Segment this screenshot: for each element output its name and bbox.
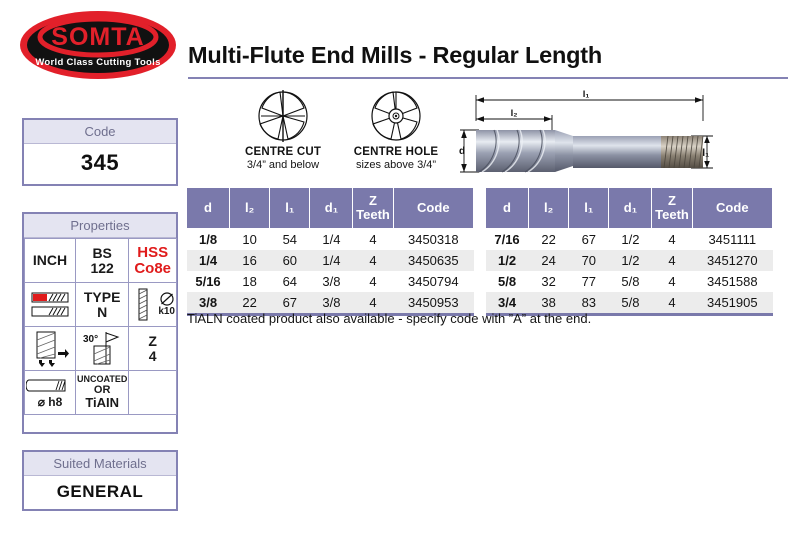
cell-code: 3450794 [393, 271, 473, 292]
centre-cut-caption: CENTRE CUT [228, 146, 338, 158]
property-tolerance: k10 [129, 283, 177, 327]
property-type: TYPE N [76, 283, 129, 327]
col-z-line1: Z [654, 194, 689, 208]
cell-l1: 67 [569, 229, 609, 251]
cell-code: 3450635 [393, 250, 473, 271]
col-l2: l₂ [230, 188, 270, 229]
svg-text:30°: 30° [83, 334, 98, 345]
cell-l2: 16 [230, 250, 270, 271]
cell-l1: 70 [569, 250, 609, 271]
property-shank-label: ⌀ h8 [38, 395, 63, 409]
cell-z: 4 [652, 229, 692, 251]
somta-logo-graphic: SOMTA World Class Cutting Tools [18, 8, 178, 82]
code-panel-heading: Code [24, 120, 176, 144]
dimension-l1-label: l₁ [583, 89, 590, 100]
col-z-teeth: Z Teeth [353, 188, 393, 229]
somta-logo: SOMTA World Class Cutting Tools [18, 8, 178, 82]
cell-d1: 1/4 [310, 250, 353, 271]
cell-d: 1/2 [486, 250, 529, 271]
cell-l2: 18 [230, 271, 270, 292]
helix-angle-icon: 30° [80, 330, 124, 368]
tolerance-k10-icon [136, 288, 150, 322]
cell-l1: 67 [270, 292, 310, 313]
table-row: 3/4 38 83 5/8 4 3451905 [486, 292, 773, 313]
properties-row: ⌀ h8 UNCOATED OR TiAIN [25, 371, 177, 415]
properties-row: 30° Z 4 [25, 327, 177, 371]
property-tolerance-label: k10 [158, 307, 175, 318]
shank-tolerance-icon [26, 377, 74, 394]
cell-d1: 1/2 [609, 250, 652, 271]
property-standard: BS 122 [76, 239, 129, 283]
table-row: 7/16 22 67 1/2 4 3451111 [486, 229, 773, 251]
cell-d1: 3/8 [310, 271, 353, 292]
svg-text:SOMTA: SOMTA [51, 23, 144, 51]
cell-code: 3451905 [692, 292, 772, 313]
property-flute-line1: Z [130, 334, 175, 349]
suited-materials-heading: Suited Materials [24, 452, 176, 476]
col-z-line1: Z [355, 194, 390, 208]
property-material-grade: HSS Co8e [129, 239, 177, 283]
cell-z: 4 [353, 292, 393, 313]
property-material-bar [25, 283, 76, 327]
table-row: 5/8 32 77 5/8 4 3451588 [486, 271, 773, 292]
diameter-symbol-icon [159, 291, 175, 307]
cell-l2: 32 [529, 271, 569, 292]
col-code: Code [692, 188, 772, 229]
col-code: Code [393, 188, 473, 229]
cell-l2: 10 [230, 229, 270, 251]
cell-l1: 60 [270, 250, 310, 271]
spec-table-right: d l₂ l₁ d₁ Z Teeth Code 7/16 22 67 1/2 4… [485, 187, 773, 316]
cell-code: 3451270 [692, 250, 772, 271]
end-mill-centre-hole-endview-icon [365, 88, 427, 144]
spec-table-right-body: 7/16 22 67 1/2 4 3451111 1/2 24 70 1/2 4… [486, 229, 773, 314]
property-coating: UNCOATED OR TiAIN [76, 371, 129, 415]
cell-d1: 1/4 [310, 229, 353, 251]
title-divider [188, 77, 788, 79]
code-panel: Code 345 [22, 118, 178, 186]
cell-code: 3451588 [692, 271, 772, 292]
property-standard-line2: 122 [77, 261, 127, 276]
suited-materials-panel: Suited Materials GENERAL [22, 450, 178, 511]
cell-d1: 5/8 [609, 271, 652, 292]
suited-materials-value: GENERAL [24, 476, 176, 509]
col-z-line2: Teeth [654, 208, 689, 222]
property-material-line2: Co8e [130, 261, 175, 277]
cell-z: 4 [652, 271, 692, 292]
property-helix-angle: 30° [76, 327, 129, 371]
cell-code: 3451111 [692, 229, 772, 251]
table-row: 1/4 16 60 1/4 4 3450635 [187, 250, 474, 271]
property-coating-line3: TiAIN [77, 396, 127, 410]
property-empty-cell [129, 371, 177, 415]
logo-tagline: World Class Cutting Tools [35, 57, 160, 68]
end-mill-side-view-icon: l₁ l₂ d [455, 84, 717, 182]
properties-panel: Properties INCH BS 122 HSS Co8e [22, 212, 178, 434]
dimension-l2-label: l₂ [511, 108, 518, 119]
centre-cut-subcaption: 3/4” and below [228, 159, 338, 171]
col-l1: l₁ [270, 188, 310, 229]
cell-l2: 24 [529, 250, 569, 271]
property-unit-system: INCH [25, 239, 76, 283]
cell-l2: 22 [529, 229, 569, 251]
cell-z: 4 [353, 271, 393, 292]
col-d: d [187, 188, 230, 229]
spec-table-left-body: 1/8 10 54 1/4 4 3450318 1/4 16 60 1/4 4 … [187, 229, 474, 314]
cell-code: 3450318 [393, 229, 473, 251]
page-title: Multi-Flute End Mills - Regular Length [188, 42, 788, 69]
cell-code: 3450953 [393, 292, 473, 313]
code-panel-value: 345 [24, 144, 176, 184]
dimension-d-label: d [459, 146, 465, 157]
col-l1: l₁ [569, 188, 609, 229]
cell-z: 4 [652, 292, 692, 313]
cell-l1: 64 [270, 271, 310, 292]
col-d1: d₁ [609, 188, 652, 229]
centre-cut-diagram: CENTRE CUT 3/4” and below [228, 88, 338, 171]
cell-d: 1/8 [187, 229, 230, 251]
cell-l1: 54 [270, 229, 310, 251]
cell-l2: 38 [529, 292, 569, 313]
table-row: 1/2 24 70 1/2 4 3451270 [486, 250, 773, 271]
centre-hole-diagram: CENTRE HOLE sizes above 3/4” [340, 88, 452, 171]
col-d: d [486, 188, 529, 229]
feed-direction-icon [29, 330, 71, 368]
end-mill-centre-cut-endview-icon [252, 88, 314, 144]
properties-row: TYPE N [25, 283, 177, 327]
property-feed-direction [25, 327, 76, 371]
property-standard-line1: BS [77, 246, 127, 261]
col-l2: l₂ [529, 188, 569, 229]
cell-d: 5/8 [486, 271, 529, 292]
cell-d1: 1/2 [609, 229, 652, 251]
spec-table-left: d l₂ l₁ d₁ Z Teeth Code 1/8 10 54 1/4 4 … [186, 187, 474, 316]
table-header-row: d l₂ l₁ d₁ Z Teeth Code [187, 188, 474, 229]
cell-d: 1/4 [187, 250, 230, 271]
properties-panel-heading: Properties [24, 214, 176, 238]
centre-hole-subcaption: sizes above 3/4” [340, 159, 452, 171]
cell-z: 4 [652, 250, 692, 271]
cell-d: 5/16 [187, 271, 230, 292]
coating-footnote: TiALN coated product also available - sp… [187, 311, 591, 326]
cell-d: 3/4 [486, 292, 529, 313]
spec-table-right-head: d l₂ l₁ d₁ Z Teeth Code [486, 188, 773, 229]
cell-d1: 3/8 [310, 292, 353, 313]
property-type-line2: N [77, 305, 127, 320]
cell-z: 4 [353, 250, 393, 271]
cell-d: 7/16 [486, 229, 529, 251]
centre-hole-caption: CENTRE HOLE [340, 146, 452, 158]
cell-l2: 22 [230, 292, 270, 313]
table-header-row: d l₂ l₁ d₁ Z Teeth Code [486, 188, 773, 229]
cell-l1: 83 [569, 292, 609, 313]
property-flute-count: Z 4 [129, 327, 177, 371]
cell-d: 3/8 [187, 292, 230, 313]
property-shank-tolerance: ⌀ h8 [25, 371, 76, 415]
cell-l1: 77 [569, 271, 609, 292]
cell-d1: 5/8 [609, 292, 652, 313]
table-row: 3/8 22 67 3/8 4 3450953 [187, 292, 474, 313]
property-material-line1: HSS [130, 245, 175, 261]
col-z-line2: Teeth [355, 208, 390, 222]
table-row: 1/8 10 54 1/4 4 3450318 [187, 229, 474, 251]
datasheet-page: SOMTA World Class Cutting Tools Multi-Fl… [0, 0, 800, 534]
property-type-line1: TYPE [77, 290, 127, 305]
table-row: 5/16 18 64 3/8 4 3450794 [187, 271, 474, 292]
tool-drawing: l₁ l₂ d [455, 84, 717, 182]
property-flute-line2: 4 [130, 349, 175, 364]
spec-table-left-head: d l₂ l₁ d₁ Z Teeth Code [187, 188, 474, 229]
col-d1: d₁ [310, 188, 353, 229]
properties-row: INCH BS 122 HSS Co8e [25, 239, 177, 283]
cell-z: 4 [353, 229, 393, 251]
material-bar-icon [28, 290, 72, 320]
col-z-teeth: Z Teeth [652, 188, 692, 229]
properties-grid: INCH BS 122 HSS Co8e [24, 238, 177, 415]
